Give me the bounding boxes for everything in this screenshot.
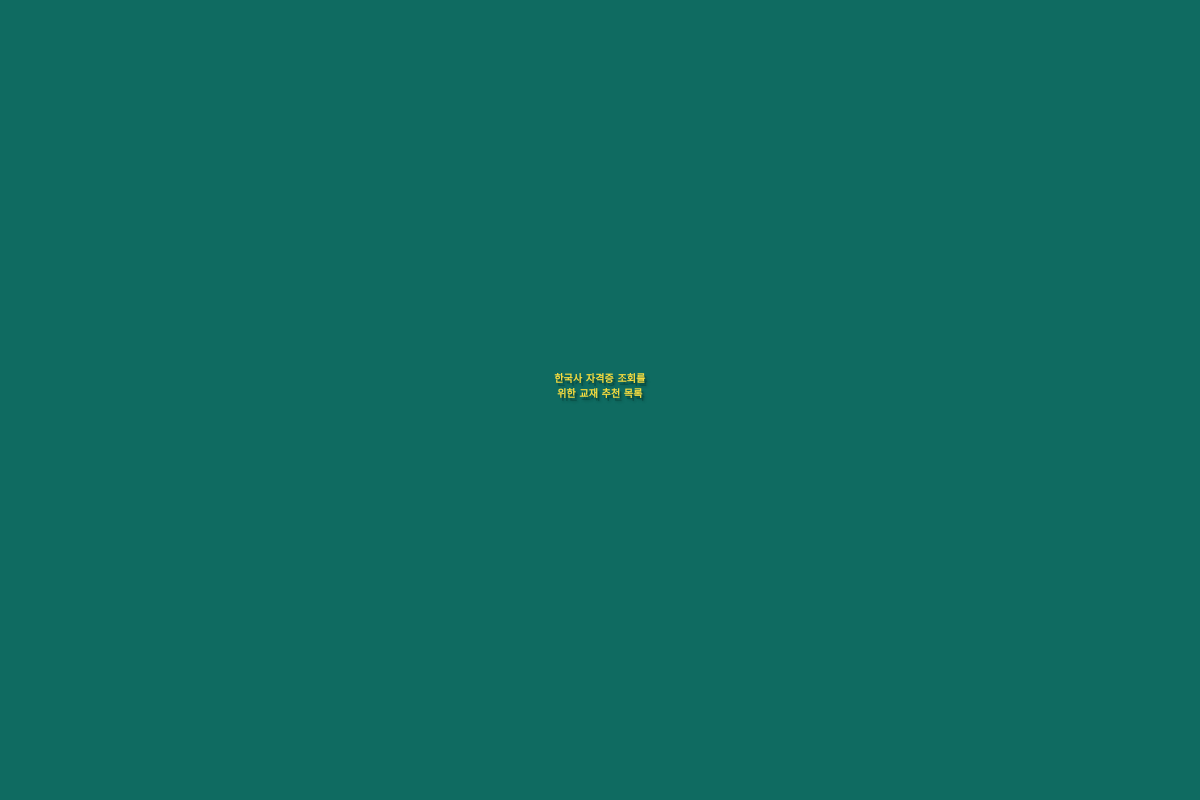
title-line-1: 한국사 자격증 조회를: [0, 374, 1200, 387]
title-block: 한국사 자격증 조회를 위한 교재 추천 목록: [0, 374, 1200, 402]
title-line-2: 위한 교재 추천 목록: [0, 389, 1200, 402]
banner-canvas: 한국사 자격증 조회를 위한 교재 추천 목록: [0, 0, 1200, 800]
